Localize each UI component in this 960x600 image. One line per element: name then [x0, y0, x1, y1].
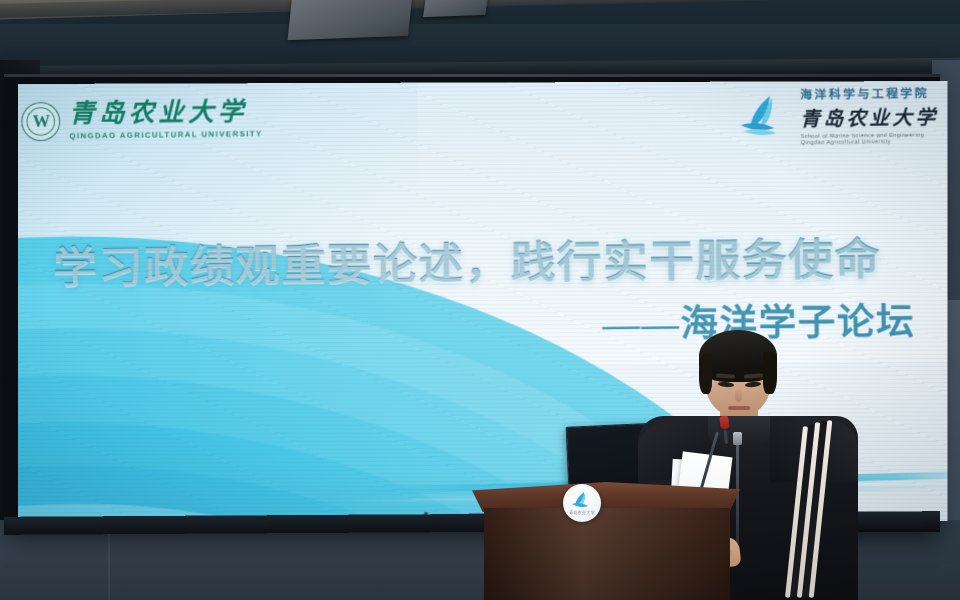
speaker-hair-left [699, 354, 712, 394]
marine-school-university-cn: 青岛农业大学 [800, 102, 938, 132]
qau-logo-text: 青岛农业大学 QINGDAO AGRICULTURAL UNIVERSITY [69, 100, 263, 140]
ceiling-vent-left [288, 0, 413, 40]
marine-school-university-en: Qingdao Agricultural University [801, 139, 891, 146]
podium-shading [484, 508, 730, 600]
ceiling [0, 0, 960, 70]
speaker-hair-right [763, 352, 777, 394]
conference-hall-scene: 青岛农业大学 QINGDAO AGRICULTURAL UNIVERSITY [0, 0, 960, 600]
marine-school-logo-text: 海洋科学与工程学院 青岛农业大学 School of Marine Scienc… [800, 85, 939, 147]
qau-logo-left: 青岛农业大学 QINGDAO AGRICULTURAL UNIVERSITY [21, 99, 262, 141]
speaker-zipper-pull [733, 432, 742, 445]
marine-school-logo-right: 海洋科学与工程学院 青岛农业大学 School of Marine Scienc… [739, 85, 939, 147]
wall-panel-seam-left [108, 524, 110, 600]
sail-wave-icon [739, 94, 794, 140]
slide-title-main: 学习政绩观重要论述，践行实干服务使命 [18, 223, 948, 296]
qau-seal-icon [21, 102, 60, 141]
qau-name-cn: 青岛农业大学 [69, 100, 262, 129]
qau-name-en: QINGDAO AGRICULTURAL UNIVERSITY [69, 129, 262, 141]
speaker-mouth [728, 406, 750, 410]
podium-emblem: 青岛农业大学 [563, 484, 601, 522]
bezel-top-highlight [4, 74, 940, 77]
podium-sail-icon [571, 491, 593, 509]
podium-emblem-caption: 青岛农业大学 [569, 510, 595, 516]
ceiling-vent-right [423, 0, 489, 17]
speaker-jacket-zipper [736, 434, 739, 544]
microphone-head-icon [719, 415, 730, 429]
marine-school-name-cn: 海洋科学与工程学院 [800, 85, 929, 103]
speaker-nose [735, 388, 742, 402]
